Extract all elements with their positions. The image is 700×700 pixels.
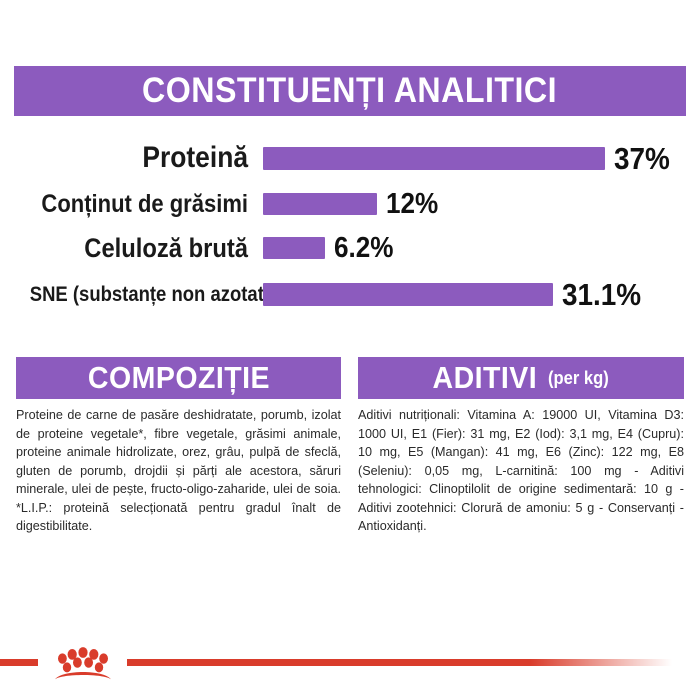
chart-row-label: Celuloză brută <box>30 235 248 262</box>
chart-bar-track: 6.2% <box>248 226 700 270</box>
chart-row-label: SNE (substanțe non azotate) <box>30 284 248 305</box>
chart-row: Celuloză brută 6.2% <box>0 226 700 270</box>
chart-bar-value: 6.2% <box>334 234 393 263</box>
chart-bar-fill <box>263 193 377 215</box>
chart-row: Proteină 37% <box>0 134 700 182</box>
chart-row: Conținut de grăsimi 12% <box>0 182 700 226</box>
product-info-sheet: CONSTITUENȚI ANALITICI Proteină 37% Conț… <box>0 0 700 700</box>
composition-header: COMPOZIȚIE <box>16 357 341 399</box>
composition-title: COMPOZIȚIE <box>87 360 269 396</box>
footer-rule-left <box>0 659 38 666</box>
analytical-constituents-chart: Proteină 37% Conținut de grăsimi 12% Cel… <box>0 134 700 324</box>
chart-bar-value: 37% <box>614 143 670 174</box>
chart-bar-track: 12% <box>248 182 700 226</box>
additives-body-text: Aditivi nutriționali: Vitamina A: 19000 … <box>358 406 684 536</box>
analytical-constituents-header: CONSTITUENȚI ANALITICI <box>14 66 686 116</box>
composition-body-text: Proteine de carne de pasăre deshidratate… <box>16 406 341 536</box>
chart-bar-fill <box>263 237 325 259</box>
chart-bar-value: 31.1% <box>562 279 641 310</box>
chart-bar-fill <box>263 283 553 306</box>
additives-title: ADITIVI <box>433 360 538 396</box>
additives-subtitle: (per kg) <box>548 368 609 389</box>
additives-header: ADITIVI (per kg) <box>358 357 684 399</box>
chart-bar-track: 37% <box>248 134 700 182</box>
chart-bar-value: 12% <box>386 190 438 219</box>
chart-row-label: Proteină <box>30 143 248 173</box>
analytical-constituents-title: CONSTITUENȚI ANALITICI <box>142 71 557 111</box>
royal-canin-crown-icon <box>47 646 119 680</box>
footer-rule-right <box>127 659 672 666</box>
chart-row-label: Conținut de grăsimi <box>30 192 248 217</box>
chart-row: SNE (substanțe non azotate) 31.1% <box>0 270 700 318</box>
chart-bar-fill <box>263 147 605 170</box>
chart-bar-track: 31.1% <box>248 270 700 318</box>
brand-footer <box>0 648 700 678</box>
